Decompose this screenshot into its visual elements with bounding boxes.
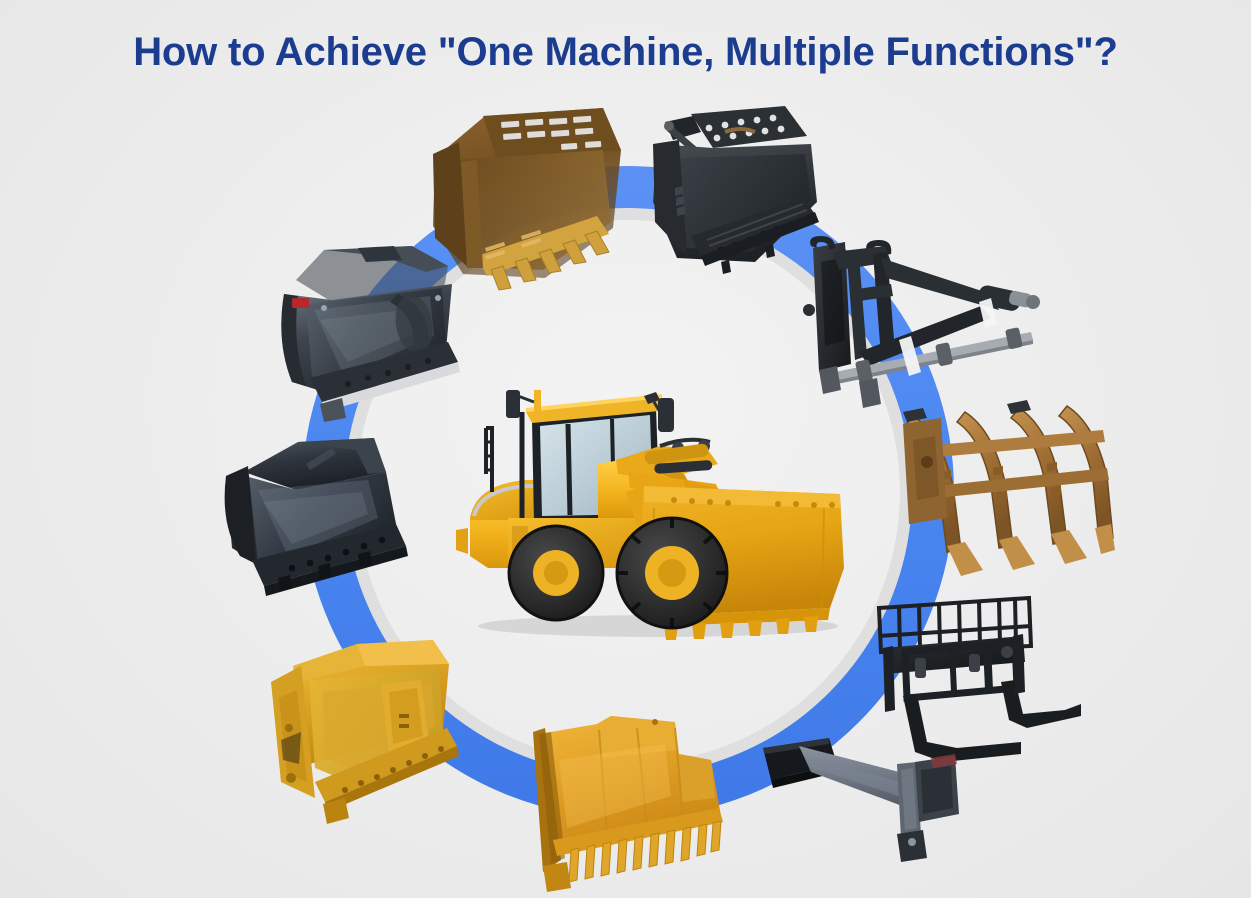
attachment-high-dump-bucket[interactable] — [262, 232, 480, 417]
attachment-rake-blade[interactable] — [515, 700, 780, 895]
attachment-general-purpose-bucket[interactable] — [253, 622, 488, 837]
attachment-log-grapple[interactable] — [895, 400, 1115, 585]
diagram-canvas: How to Achieve "One Machine, Multiple Fu… — [0, 0, 1251, 898]
attachment-quick-coupler[interactable] — [795, 232, 1045, 427]
page-title: How to Achieve "One Machine, Multiple Fu… — [0, 30, 1251, 75]
attachment-light-material-bucket[interactable] — [218, 428, 423, 603]
attachment-snow-plow[interactable] — [755, 722, 960, 877]
